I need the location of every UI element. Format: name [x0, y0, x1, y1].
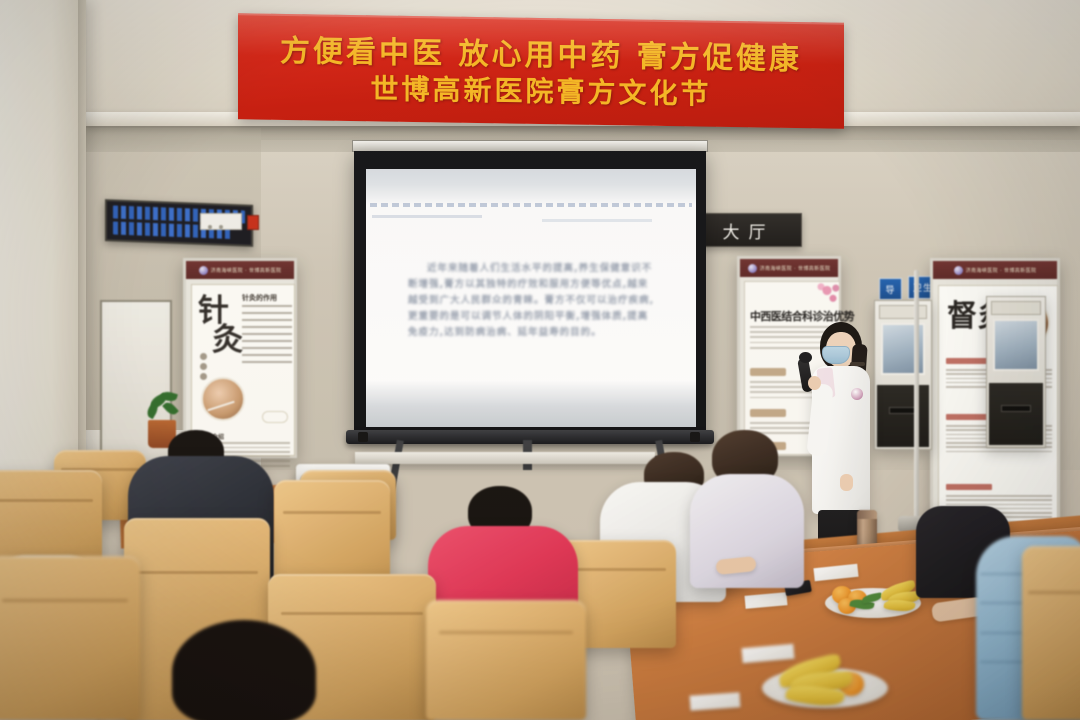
- projection-screen-assembly: 近年来随着人们生活水平的提高,养生保健意识不断增强,膏方以其独特的疗效和服用方便…: [352, 140, 708, 440]
- self-service-kiosk-1[interactable]: [874, 300, 932, 450]
- wall-switch-panel[interactable]: [200, 213, 242, 230]
- kiosk-2-base: [989, 383, 1043, 445]
- poster-dujiu-section-3: [946, 484, 992, 490]
- poster-dujiu-header: 济南海峡医院 · 世博高新医院: [933, 261, 1057, 279]
- self-service-kiosk-2[interactable]: [986, 296, 1046, 448]
- kiosk-2-card-slot[interactable]: [1001, 405, 1031, 412]
- thermos-lid: [857, 510, 877, 519]
- screen-surface: 近年来随着人们生活水平的提高,养生保健意识不断增强,膏方以其独特的疗效和服用方便…: [366, 169, 696, 427]
- hospital-logo-icon: [199, 266, 208, 275]
- hall-sign-label: 大厅: [714, 218, 775, 243]
- poster-acupuncture-header: 济南海峡医院 · 世博高新医院: [186, 261, 294, 279]
- direction-sign-guide-label: 导: [885, 283, 895, 296]
- slide-subrule-left: [372, 215, 482, 218]
- kiosk-2-screen[interactable]: [993, 319, 1039, 371]
- poster-acupuncture: 济南海峡医院 · 世博高新医院 针 灸 针灸的作用 针灸介绍: [183, 258, 297, 458]
- audience-head: [172, 620, 316, 720]
- switch-dot-icon: [208, 225, 212, 229]
- poster-integrated-section-1: [750, 368, 786, 376]
- poster-dujiu-header-text: 济南海峡医院 · 世博高新医院: [966, 267, 1037, 274]
- switch-dot-icon: [219, 225, 223, 229]
- screen-border: 近年来随着人们生活水平的提高,养生保健意识不断增强,膏方以其独特的疗效和服用方便…: [354, 151, 706, 436]
- shoulder-badge-icon: [851, 388, 863, 400]
- face-mask-icon: [822, 346, 850, 364]
- poster-acupuncture-header-text: 济南海峡医院 · 世博高新医院: [211, 267, 282, 274]
- hospital-logo-icon: [748, 264, 757, 273]
- speaker-hand-holding-mic: [808, 376, 821, 390]
- poster-acupuncture-title: 针 灸: [198, 297, 241, 354]
- poster-acupuncture-subtitle: 针灸的作用: [242, 293, 277, 303]
- kiosk-1-card-slot[interactable]: [889, 407, 917, 414]
- acupuncture-photo: [201, 377, 245, 421]
- poster-integrated-section-2: [750, 409, 786, 417]
- slide-body: 近年来随着人们生活水平的提高,养生保健意识不断增强,膏方以其独特的疗效和服用方便…: [408, 261, 658, 341]
- audience-member-foreground: [172, 620, 322, 720]
- microphone-head-icon: [799, 352, 812, 363]
- chair[interactable]: [0, 556, 140, 720]
- needle-icon: [207, 401, 234, 412]
- kiosk-2-header-panel: [991, 301, 1041, 315]
- chair[interactable]: [426, 600, 586, 720]
- banner-line-1: 方便看中医 放心用中药 膏方促健康: [280, 33, 802, 77]
- speaker-hand-lower: [840, 474, 853, 491]
- photo-scene: 方便看中医 放心用中药 膏方促健康 世博高新医院膏方文化节 大厅 导 卫生 卫生…: [0, 0, 1080, 720]
- chair[interactable]: [1022, 546, 1080, 720]
- slide-header-rule: [370, 203, 692, 207]
- kiosk-1-header-panel: [879, 305, 927, 319]
- roller-cap-left: [358, 432, 368, 442]
- banner-line-2: 世博高新医院膏方文化节: [370, 71, 711, 111]
- queue-stanchion-pole: [914, 270, 919, 520]
- poster-integrated-header: 济南海峡医院 · 世博高新医院: [740, 259, 838, 277]
- kiosk-1-base: [877, 385, 929, 447]
- poster-acupuncture-seal-dots: [200, 353, 207, 383]
- event-banner: 方便看中医 放心用中药 膏方促健康 世博高新医院膏方文化节: [238, 13, 844, 129]
- structural-column: [0, 0, 86, 500]
- poster-integrated-header-text: 济南海峡医院 · 世博高新医院: [760, 265, 831, 272]
- direction-sign-guide: 导: [879, 278, 902, 300]
- hospital-logo-icon: [954, 266, 963, 275]
- slide-subrule-right: [542, 219, 652, 222]
- poster-title-char-2: 灸: [212, 326, 241, 355]
- fire-alarm-box: [247, 215, 259, 230]
- cloud-ornament-icon: [262, 411, 288, 423]
- slide-paragraph: 近年来随着人们生活水平的提高,养生保健意识不断增强,膏方以其独特的疗效和服用方便…: [408, 261, 658, 341]
- column-edge-shadow: [78, 0, 88, 500]
- poster-acupuncture-bullets: [242, 305, 292, 368]
